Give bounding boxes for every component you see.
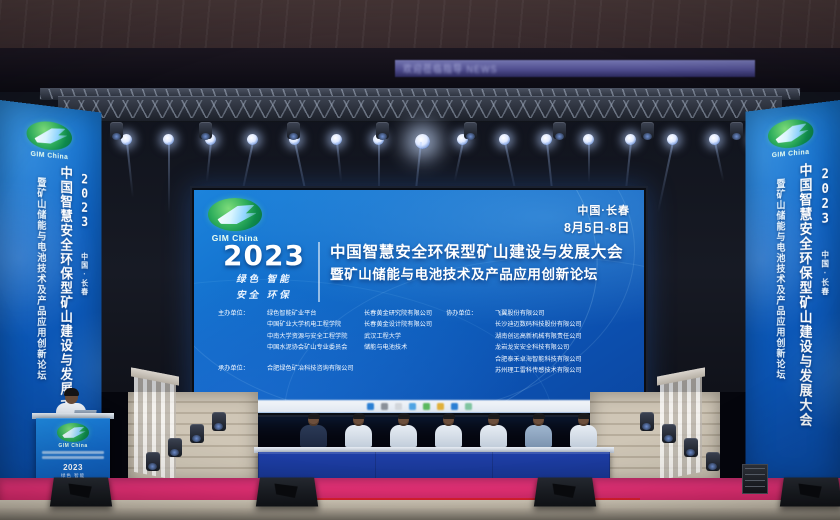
taskbar-icon [409, 403, 416, 410]
screen-motto-line2: 安全 环保 [216, 289, 312, 302]
stage-lamp [415, 134, 430, 149]
organizer-row: 中国矿业大学机电工程学院 长春黄金设计院有限公司 [218, 319, 446, 330]
moving-head-light [199, 122, 212, 139]
panel-member-torso [570, 425, 597, 447]
panel-member-head [533, 414, 544, 426]
panel-member-torso [525, 425, 552, 447]
gim-china-logo: GIM China [27, 119, 72, 162]
floor-moving-head-light [640, 412, 654, 431]
coorg-2: 湖南创远高新机械有限责任公司 [495, 331, 582, 342]
screen-organizer-block: 主办单位： 绿色智能矿业平台 长春黄金研究院有限公司 中国矿业大学机电工程学院 … [218, 308, 628, 376]
panel-member-hair [533, 413, 545, 419]
screen-motto-line1: 绿色 智能 [216, 273, 312, 286]
coorg-1: 长沙迪迈数码科技股份有限公司 [495, 319, 582, 330]
host-col1-0: 绿色智能矿业平台 [267, 308, 364, 319]
panel-member-head [578, 414, 589, 426]
podium-text-line [42, 456, 104, 459]
stage-apron-front [0, 508, 840, 520]
gim-logo-text: GIM China [768, 146, 813, 159]
host-col2-3: 储能与电池技术 [364, 342, 446, 353]
banner-year-left: 2023 [78, 172, 91, 230]
panel-member-hair [308, 413, 320, 419]
speaker-head [65, 390, 78, 404]
floor-moving-head-light [684, 438, 698, 457]
panel-member-head [353, 414, 364, 426]
floor-monitor-speaker [50, 478, 112, 507]
floor-moving-head-light [168, 438, 182, 457]
lighting-truss [58, 96, 782, 122]
gim-china-logo: GIM China [768, 117, 813, 160]
coorg-5: 苏州理工雷科传感技术有限公司 [495, 365, 582, 376]
panel-member-torso [390, 425, 417, 447]
host-label: 主办单位： [218, 308, 267, 319]
equipment-case [742, 464, 768, 494]
top-led-strip: 欢迎莅临指导 NEWS [395, 60, 755, 77]
taskbar-icon [451, 403, 458, 410]
floor-moving-head-light [146, 452, 160, 471]
organizer-row: 长沙迪迈数码科技股份有限公司 [446, 319, 628, 330]
gim-logo-text: GIM China [57, 443, 89, 449]
banner-subtitle-right: 暨矿山储能与电池技术及产品应用创新论坛 [772, 178, 785, 380]
screen-year: 2023 [216, 242, 312, 270]
floor-monitor-speaker [534, 478, 596, 507]
banner-title-right: 中国智慧安全环保型矿山建设与发展大会 [797, 162, 816, 428]
gim-china-logo: GIM China [57, 423, 89, 449]
host-col1-2: 中南大学资源与安全工程学院 [267, 331, 364, 342]
gim-logo-mark [57, 423, 89, 442]
floor-monitor-speaker [780, 478, 840, 507]
panel-member-hair [578, 413, 590, 419]
light-beam [168, 142, 170, 214]
panel-member-head [308, 414, 319, 426]
ceiling-beams [0, 0, 840, 48]
moving-head-light [376, 122, 389, 139]
stage-scene: 欢迎莅临指导 NEWS GIM China 2023 中国·长春 中国智慧安全环… [0, 0, 840, 520]
screen-location-block: 中国·长春 8月5日-8日 [564, 203, 630, 237]
organizer-row: 龙岩龙安安全科技有限公司 [446, 342, 628, 353]
undertaker-label: 承办单位： [218, 363, 267, 374]
floor-moving-head-light [706, 452, 720, 471]
hall-ceiling [0, 0, 840, 92]
organizer-row: 苏州理工雷科传感技术有限公司 [446, 365, 628, 376]
gim-logo-mark [27, 119, 72, 152]
screen-title-block: 2023 绿色 智能 安全 环保 中国智慧安全环保型矿山建设与发展大会 暨矿山储… [216, 242, 626, 302]
moving-head-light [641, 122, 654, 139]
organizer-row: 湖南创远高新机械有限责任公司 [446, 331, 628, 342]
moving-head-light [553, 122, 566, 139]
taskbar-icon [437, 403, 444, 410]
banner-year-right: 2023 [818, 167, 832, 227]
panel-member-head [488, 414, 499, 426]
gim-logo-mark [768, 117, 813, 150]
organizer-row: 主办单位： 绿色智能矿业平台 长春黄金研究院有限公司 [218, 308, 446, 319]
host-col1-1: 中国矿业大学机电工程学院 [267, 319, 364, 330]
organizer-row: 合肥泰禾卓海智能科技有限公司 [446, 354, 628, 365]
panel-member-head [443, 414, 454, 426]
podium-text-line [42, 451, 104, 454]
moving-head-light [464, 122, 477, 139]
coorg-label: 协办单位： [446, 308, 495, 319]
floor-moving-head-light [190, 424, 204, 443]
organizer-row: 协办单位： 飞翼股份有限公司 [446, 308, 628, 319]
gim-china-logo: 主办单位： GIM China [208, 198, 262, 244]
banner-subtitle-left: 暨矿山储能与电池技术及产品应用创新论坛 [33, 177, 47, 382]
screen-date: 8月5日-8日 [564, 220, 630, 237]
organizer-spacer [218, 354, 446, 363]
banner-city-right: 中国·长春 [820, 250, 830, 296]
floor-monitor-speaker [256, 478, 318, 507]
banner-city-left: 中国·长春 [80, 252, 90, 296]
taskbar-icon [367, 403, 374, 410]
screen-main-title: 中国智慧安全环保型矿山建设与发展大会 [330, 242, 626, 264]
organizer-row: 中南大学资源与安全工程学院 武汉工程大学 [218, 331, 446, 342]
host-col2-2: 武汉工程大学 [364, 331, 446, 342]
screen-sub-title: 暨矿山储能与电池技术及产品应用创新论坛 [330, 264, 626, 285]
moving-head-light [287, 122, 300, 139]
panel-member-torso [435, 425, 462, 447]
panel-member-hair [353, 413, 365, 419]
light-beam [588, 142, 590, 182]
coorg-0: 飞翼股份有限公司 [495, 308, 545, 319]
main-led-screen: 主办单位： GIM China 中国·长春 8月5日-8日 2023 绿色 智能… [190, 186, 648, 417]
panel-member-hair [488, 413, 500, 419]
panel-member-hair [398, 413, 410, 419]
screen-city: 中国·长春 [564, 203, 630, 220]
panel-member-torso [300, 425, 327, 447]
moving-head-light [730, 122, 743, 139]
taskbar-icon [395, 403, 402, 410]
screen-titles: 中国智慧安全环保型矿山建设与发展大会 暨矿山储能与电池技术及产品应用创新论坛 [320, 242, 626, 285]
coorg-3: 龙岩龙安安全科技有限公司 [495, 342, 569, 353]
led-taskbar-strip [194, 400, 644, 413]
taskbar-icon [423, 403, 430, 410]
panel-member-torso [345, 425, 372, 447]
panel-member-torso [480, 425, 507, 447]
banner-title-left: 中国智慧安全环保型矿山建设与发展大会 [58, 165, 76, 425]
side-banner-right: GIM China 2023 中国·长春 中国智慧安全环保型矿山建设与发展大会 … [745, 100, 840, 498]
organizer-column-coorg: 协办单位： 飞翼股份有限公司 长沙迪迈数码科技股份有限公司 湖南创远高新机械有限… [446, 308, 628, 376]
organizer-row: 承办单位： 合肥绿色矿冶科技咨询有限公司 [218, 363, 446, 374]
organizer-column-host: 主办单位： 绿色智能矿业平台 长春黄金研究院有限公司 中国矿业大学机电工程学院 … [218, 308, 446, 376]
moving-head-light [110, 122, 123, 139]
screen-year-block: 2023 绿色 智能 安全 环保 [216, 242, 320, 302]
taskbar-icon [381, 403, 388, 410]
top-led-text: 欢迎莅临指导 NEWS [403, 61, 751, 76]
gim-logo-text: GIM China [27, 148, 72, 161]
coorg-4: 合肥泰禾卓海智能科技有限公司 [495, 354, 582, 365]
panel-member-hair [443, 413, 455, 419]
taskbar-icon [465, 403, 472, 410]
gim-logo-mark [208, 198, 262, 231]
floor-moving-head-light [662, 424, 676, 443]
led-screen-surface: 主办单位： GIM China 中国·长春 8月5日-8日 2023 绿色 智能… [194, 190, 644, 413]
floor-moving-head-light [212, 412, 226, 431]
podium-year: 2023 [36, 463, 110, 472]
organizer-row: 中国水泥协会矿山专业委员会 储能与电池技术 [218, 342, 446, 353]
panel-member-head [398, 414, 409, 426]
undertaker-value: 合肥绿色矿冶科技咨询有限公司 [267, 363, 354, 374]
host-col2-0: 长春黄金研究院有限公司 [364, 308, 446, 319]
host-col1-3: 中国水泥协会矿山专业委员会 [267, 342, 364, 353]
host-col2-1: 长春黄金设计院有限公司 [364, 319, 446, 330]
